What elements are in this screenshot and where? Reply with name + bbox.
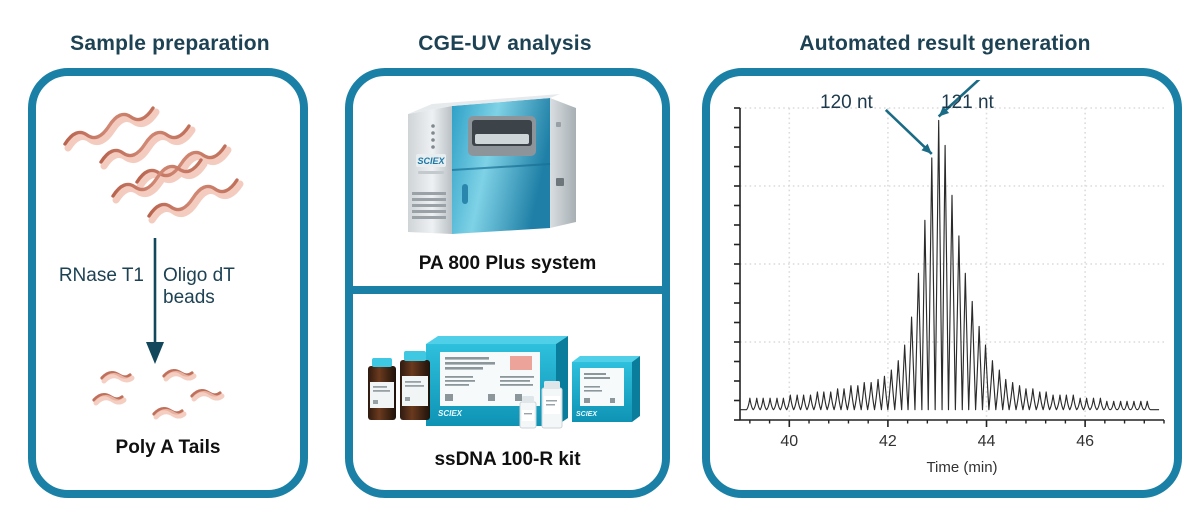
column-title-cge-uv-analysis: CGE-UV analysis — [345, 32, 665, 56]
sciex-logo-text: SCIEX — [417, 156, 445, 166]
chart-trace-line — [740, 120, 1159, 409]
process-label-line1: Oligo dT — [163, 265, 235, 286]
svg-text:46: 46 — [1076, 433, 1094, 450]
caption-ssdna-100r-kit: ssDNA 100-R kit — [352, 449, 663, 471]
chart-gridlines — [740, 108, 1164, 420]
caption-pa-800-plus-system: PA 800 Plus system — [352, 253, 663, 275]
electropherogram-chart: 40424446 Time (min) — [712, 80, 1172, 488]
figure-canvas: Sample preparation CGE-UV analysis Autom… — [0, 0, 1200, 532]
svg-text:40: 40 — [780, 433, 798, 450]
chart-x-axis-label: Time (min) — [926, 459, 997, 476]
column-title-automated-result-generation: Automated result generation — [700, 32, 1190, 56]
pa-800-plus-instrument-image: SCIEX — [390, 92, 625, 250]
process-label-oligo-dt-beads: Oligo dT beads — [163, 265, 273, 310]
caption-poly-a-tails: Poly A Tails — [36, 437, 300, 459]
svg-text:44: 44 — [978, 433, 996, 450]
rna-strands-illustration — [60, 100, 280, 230]
panel-divider — [345, 286, 670, 294]
annotation-label-121nt: 121 nt — [941, 92, 994, 114]
annotation-label-120nt: 120 nt — [820, 92, 873, 114]
svg-text:42: 42 — [879, 433, 897, 450]
poly-a-fragments-illustration — [80, 360, 260, 430]
kit-small-box-logo: SCIEX — [576, 411, 598, 418]
chart-x-tick-labels: 40424446 — [780, 433, 1094, 450]
process-label-line2: beads — [163, 287, 215, 308]
process-label-rnase-t1: RNase T1 — [52, 265, 144, 287]
ssdna-100r-kit-image: SCIEX SCIEX — [360, 330, 655, 442]
kit-box-logo: SCIEX — [438, 409, 463, 418]
column-title-sample-preparation: Sample preparation — [20, 32, 320, 56]
